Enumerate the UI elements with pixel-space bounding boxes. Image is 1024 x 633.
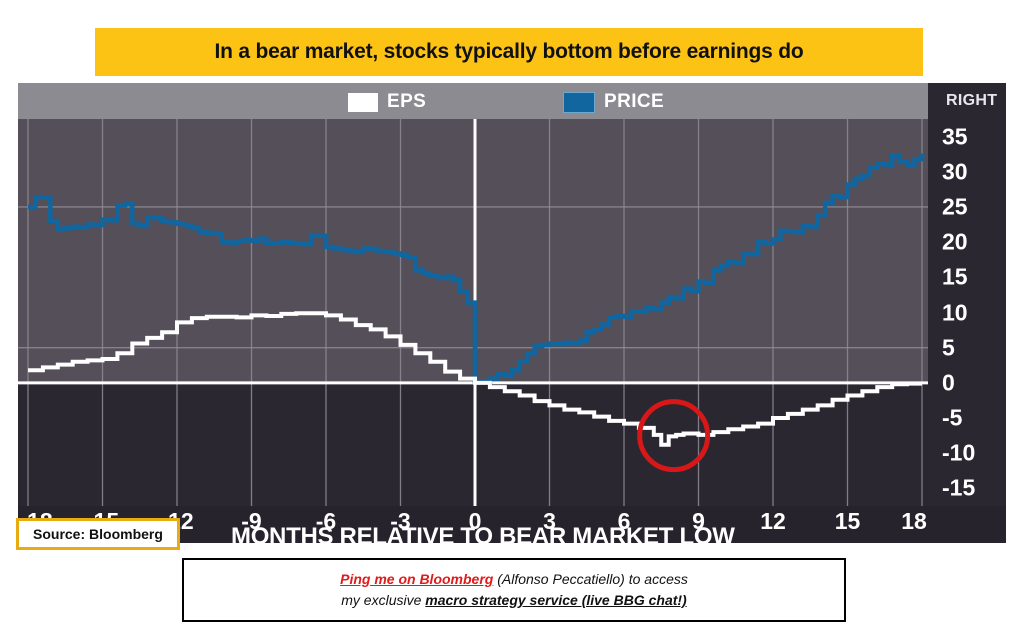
page-title: In a bear market, stocks typically botto…	[214, 40, 803, 64]
plot-area	[18, 119, 928, 506]
x-axis-tick: 15	[835, 508, 861, 535]
y-axis-tick: -5	[942, 405, 962, 432]
legend-swatch-price	[563, 92, 595, 113]
y-axis-tick: -15	[942, 475, 975, 502]
chart-plot-svg	[18, 119, 928, 506]
y-axis-tick: 30	[942, 158, 968, 185]
right-axis-title: RIGHT	[946, 92, 997, 110]
right-axis-ticks: 35302520151050-5-10-15	[928, 119, 1006, 506]
chart-legend-bar	[18, 83, 928, 119]
footer-line-1-rest: (Alfonso Peccatiello) to access	[493, 571, 688, 587]
title-banner: In a bear market, stocks typically botto…	[95, 28, 923, 76]
chart-container: EPS PRICE RIGHT 35302520151050-5-10-15 -…	[18, 83, 1006, 543]
y-axis-tick: 10	[942, 299, 968, 326]
y-axis-tick: 20	[942, 229, 968, 256]
bloomberg-ping-link[interactable]: Ping me on Bloomberg	[340, 571, 493, 587]
x-axis-tick: 18	[901, 508, 927, 535]
legend-label-price: PRICE	[604, 91, 664, 113]
y-axis-tick: -10	[942, 440, 975, 467]
legend-label-eps: EPS	[387, 91, 426, 113]
macro-service-link[interactable]: macro strategy service (live BBG chat!)	[425, 592, 686, 608]
y-axis-tick: 35	[942, 123, 968, 150]
y-axis-tick: 0	[942, 369, 955, 396]
footer-caption-box: Ping me on Bloomberg (Alfonso Peccatiell…	[182, 558, 846, 622]
legend-item-price[interactable]: PRICE	[563, 91, 664, 113]
footer-line-2: my exclusive macro strategy service (liv…	[341, 590, 686, 611]
legend-swatch-eps	[348, 93, 378, 112]
source-note: Source: Bloomberg	[16, 518, 180, 550]
x-axis-title: MONTHS RELATIVE TO BEAR MARKET LOW	[231, 523, 735, 543]
footer-line-2-pre: my exclusive	[341, 592, 425, 608]
footer-line-1: Ping me on Bloomberg (Alfonso Peccatiell…	[340, 569, 688, 590]
y-axis-tick: 25	[942, 193, 968, 220]
y-axis-tick: 15	[942, 264, 968, 291]
x-axis-tick: 12	[760, 508, 786, 535]
legend-item-eps[interactable]: EPS	[348, 91, 426, 113]
y-axis-tick: 5	[942, 334, 955, 361]
